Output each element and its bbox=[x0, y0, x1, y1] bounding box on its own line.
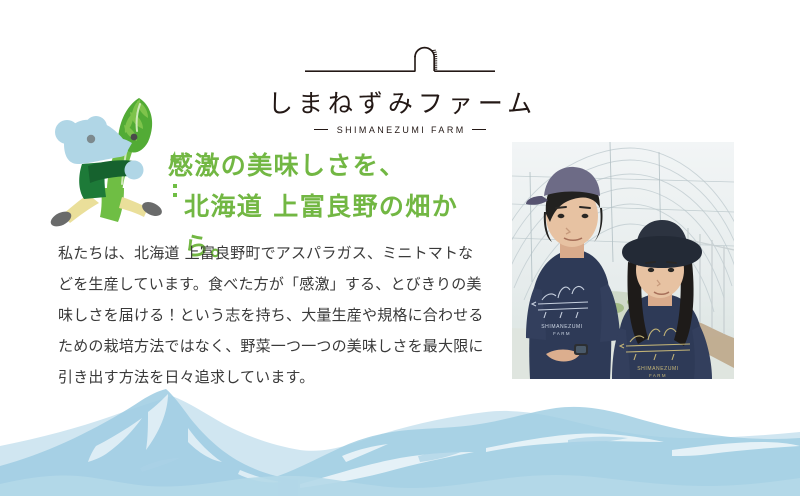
running-mouse-with-asparagus-illustration bbox=[44, 84, 184, 229]
brand-logo: しまねずみファーム SHIMANEZUMI FARM bbox=[260, 42, 540, 135]
intro-paragraph: 私たちは、北海道 上富良野町でアスパラガス、ミニトマトなどを生産しています。食べ… bbox=[58, 238, 488, 393]
svg-text:FARM: FARM bbox=[649, 373, 667, 378]
logo-rule-left bbox=[314, 129, 328, 130]
farmers-in-greenhouse-photo: SHIMANEZUMI FARM bbox=[512, 142, 734, 379]
svg-text:SHIMANEZUMI: SHIMANEZUMI bbox=[541, 324, 583, 330]
brand-name-jp: しまねずみファーム bbox=[260, 90, 540, 118]
logo-rule-right bbox=[472, 129, 486, 130]
promo-page: しまねずみファーム SHIMANEZUMI FARM bbox=[0, 0, 800, 496]
mascot-svg bbox=[44, 84, 184, 229]
svg-text:FARM: FARM bbox=[553, 331, 571, 336]
brand-name-en-row: SHIMANEZUMI FARM bbox=[260, 125, 540, 135]
svg-text:SHIMANEZUMI: SHIMANEZUMI bbox=[637, 366, 679, 372]
intro-paragraph-block: 私たちは、北海道 上富良野町でアスパラガス、ミニトマトなどを生産しています。食べ… bbox=[58, 238, 488, 393]
greenhouse-arch-logo-mark bbox=[305, 42, 495, 78]
watercolor-mountain-range-illustration bbox=[0, 380, 800, 496]
photo-svg: SHIMANEZUMI FARM bbox=[512, 142, 734, 379]
headline-line-1: 感激の美味しさを、 bbox=[168, 151, 406, 180]
mountains-svg bbox=[0, 380, 800, 496]
brand-name-en: SHIMANEZUMI FARM bbox=[334, 125, 465, 135]
